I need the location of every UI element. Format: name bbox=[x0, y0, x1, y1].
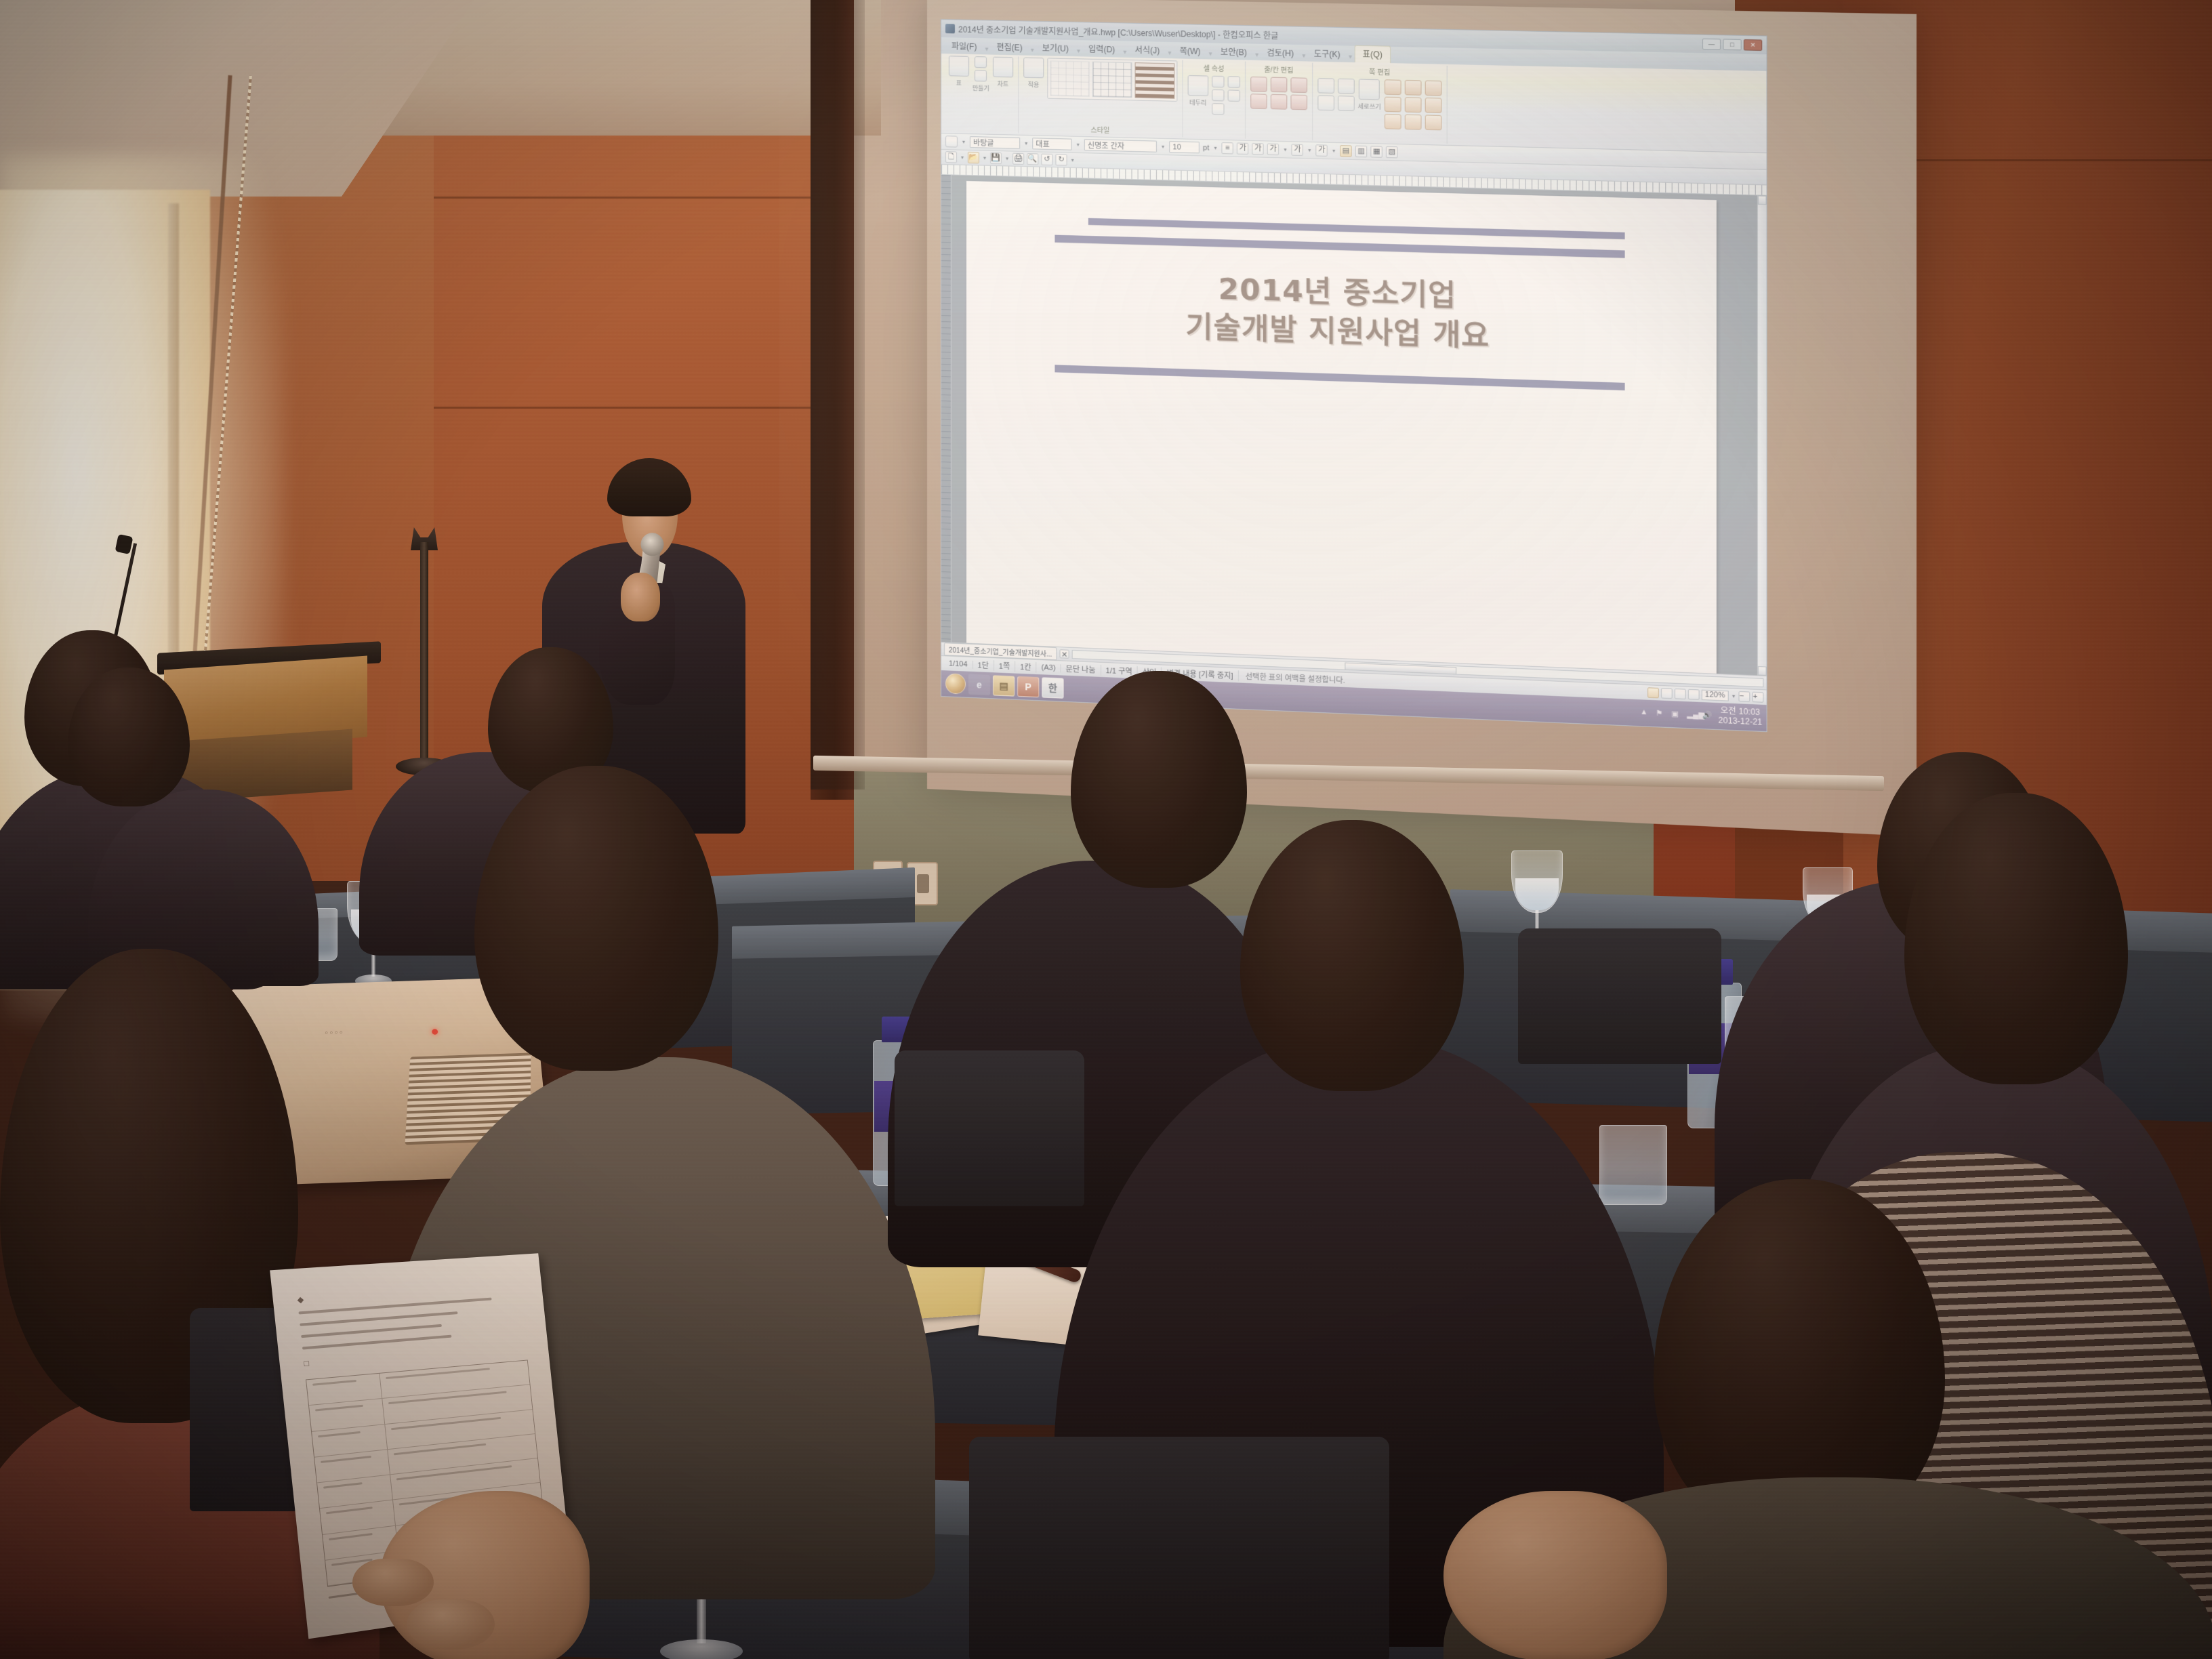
menu-item-format[interactable]: 서식(J) bbox=[1129, 43, 1166, 58]
style-swatch-grid[interactable] bbox=[1092, 62, 1132, 98]
volume-icon[interactable]: 🔊 bbox=[1702, 710, 1713, 721]
close-button[interactable]: ✕ bbox=[1744, 39, 1762, 51]
border-width-icon[interactable] bbox=[1227, 89, 1240, 102]
insert-row-above-icon[interactable] bbox=[1250, 77, 1267, 92]
border-style-icon[interactable] bbox=[1227, 76, 1240, 88]
align-middle-icon[interactable] bbox=[1385, 97, 1401, 112]
table-style-gallery[interactable] bbox=[1047, 58, 1177, 102]
insert-column-left-icon[interactable] bbox=[1271, 77, 1288, 93]
status-paper-size: (A3) bbox=[1037, 663, 1061, 672]
font-size-unit: pt bbox=[1203, 144, 1209, 152]
taskbar-internet-explorer-icon[interactable]: e bbox=[968, 674, 990, 695]
redo-icon[interactable]: ↻ bbox=[1056, 154, 1067, 165]
chevron-down-icon[interactable]: ▾ bbox=[1282, 146, 1288, 152]
status-page: 1쪽 bbox=[994, 660, 1015, 672]
align-bottom-icon[interactable] bbox=[1385, 114, 1401, 129]
action-center-icon[interactable]: ▣ bbox=[1671, 709, 1682, 720]
slide-accent-bar-top-outer bbox=[1088, 218, 1625, 239]
projected-application: 2014년 중소기업 기술개발지원사업_개요.hwp [C:\Users\Wus… bbox=[941, 19, 1767, 732]
bold-button[interactable]: 가 bbox=[1237, 142, 1248, 155]
insert-column-right-icon[interactable] bbox=[1271, 94, 1288, 110]
system-tray[interactable]: ▲ ⚑ ▣ ▂▄▆ 🔊 오전 10:03 2013-12-21 bbox=[1640, 703, 1762, 728]
audience-head bbox=[68, 668, 190, 806]
line-spacing-icon[interactable]: ≡ bbox=[1222, 142, 1233, 155]
paragraph-style-icon[interactable] bbox=[945, 136, 958, 147]
status-page-count: 1/104 bbox=[944, 659, 973, 669]
cell-align-3-icon[interactable] bbox=[1405, 115, 1422, 130]
menu-separator: ▾ bbox=[1122, 47, 1127, 58]
hwp-document-canvas[interactable]: 2014년 중소기업 기술개발 지원사업 개요 bbox=[941, 175, 1767, 676]
menu-separator: ▾ bbox=[1301, 51, 1306, 61]
ribbon-group-title-rowcol: 줄/칸 편집 bbox=[1264, 62, 1293, 75]
print-preview-icon[interactable]: 🔍 bbox=[1027, 153, 1038, 165]
ribbon-label-create: 만들기 bbox=[972, 83, 989, 93]
zoom-in-button[interactable]: + bbox=[1752, 692, 1763, 703]
vertical-scrollbar[interactable] bbox=[1757, 196, 1767, 676]
border-eraser-icon[interactable] bbox=[1212, 89, 1224, 102]
ribbon-group-title-pageedit: 쪽 편집 bbox=[1369, 64, 1390, 77]
font-family-select[interactable]: 신명조 간자 bbox=[1084, 139, 1157, 152]
status-char: 1칸 bbox=[1015, 661, 1036, 672]
show-hidden-icons-icon[interactable]: ▲ bbox=[1640, 708, 1651, 718]
status-column: 1단 bbox=[973, 659, 994, 670]
ribbon-group-table[interactable]: 표 만들기 차트 bbox=[944, 55, 1019, 134]
align-center-button[interactable]: ▥ bbox=[1355, 146, 1367, 158]
ribbon-label-chart: 차트 bbox=[998, 79, 1009, 88]
chevron-down-icon[interactable]: ▾ bbox=[961, 139, 966, 145]
ribbon-group-title-style: 스타일 bbox=[1090, 123, 1109, 135]
microphone-stand-pole bbox=[420, 542, 428, 773]
projector-logo: ◦◦◦◦ bbox=[325, 1027, 345, 1038]
menu-separator: ▾ bbox=[1076, 46, 1081, 56]
view-width-icon[interactable] bbox=[1675, 689, 1686, 699]
cell-height-even-icon[interactable] bbox=[1317, 78, 1334, 94]
ribbon-label-table: 표 bbox=[956, 79, 962, 87]
zoom-out-button[interactable]: − bbox=[1738, 691, 1750, 702]
font-size-input[interactable]: 10 bbox=[1169, 141, 1200, 153]
italic-button[interactable]: 가 bbox=[1252, 143, 1264, 155]
table-icon[interactable] bbox=[949, 56, 969, 77]
menu-separator: ▾ bbox=[1167, 48, 1172, 58]
chevron-down-icon[interactable]: ▾ bbox=[1331, 148, 1336, 154]
network-flag-icon[interactable]: ⚑ bbox=[1656, 708, 1666, 719]
align-left-button[interactable]: ▤ bbox=[1340, 145, 1351, 157]
ribbon-group-title-cell: 셀 속성 bbox=[1204, 61, 1225, 73]
chart-icon[interactable] bbox=[993, 57, 1013, 78]
zoom-magnifier-icon[interactable] bbox=[1688, 689, 1700, 700]
menu-separator: ▾ bbox=[1348, 52, 1353, 62]
status-paragraph: 문단 나눔 bbox=[1061, 663, 1101, 676]
cell-align-5-icon[interactable] bbox=[1425, 98, 1442, 113]
presenter-hand bbox=[621, 573, 660, 621]
cell-border-icon[interactable] bbox=[1187, 75, 1208, 96]
taskbar-powerpoint-icon[interactable]: P bbox=[1017, 676, 1039, 697]
split-cells-icon[interactable] bbox=[1290, 95, 1307, 110]
menu-item-page[interactable]: 쪽(W) bbox=[1174, 43, 1207, 59]
menu-separator: ▾ bbox=[1254, 50, 1259, 60]
cell-align-4-icon[interactable] bbox=[1425, 81, 1442, 96]
style-swatch-banded[interactable] bbox=[1134, 62, 1174, 99]
page-area[interactable]: 2014년 중소기업 기술개발 지원사업 개요 bbox=[951, 175, 1757, 675]
scroll-down-button[interactable] bbox=[1758, 666, 1767, 676]
water-tumbler bbox=[1599, 1125, 1667, 1205]
menu-item-edit[interactable]: 편집(E) bbox=[990, 40, 1028, 56]
scroll-up-button[interactable] bbox=[1758, 196, 1767, 205]
projection-screen-casing bbox=[811, 0, 865, 790]
font-color-button[interactable]: 가 bbox=[1316, 144, 1328, 157]
menu-item-security[interactable]: 보안(B) bbox=[1214, 44, 1253, 60]
menu-item-table[interactable]: 표(Q) bbox=[1354, 45, 1391, 63]
view-facing-pages-icon[interactable] bbox=[1661, 688, 1673, 699]
table-insert-icon[interactable] bbox=[975, 56, 987, 68]
projector-power-led bbox=[432, 1029, 438, 1035]
chevron-down-icon[interactable]: ▾ bbox=[1004, 155, 1010, 161]
maximize-button[interactable]: □ bbox=[1723, 39, 1741, 50]
align-justify-button[interactable]: ▧ bbox=[1386, 146, 1398, 159]
chevron-down-icon[interactable]: ▾ bbox=[1731, 693, 1736, 699]
cell-width-even-icon[interactable] bbox=[1317, 95, 1334, 110]
taskbar-clock[interactable]: 오전 10:03 2013-12-21 bbox=[1719, 706, 1763, 727]
save-icon[interactable]: 💾 bbox=[990, 152, 1002, 164]
menu-item-file[interactable]: 파일(F) bbox=[945, 39, 983, 54]
hwp-app-icon bbox=[945, 24, 955, 33]
ribbon-label-vertical: 세로쓰기 bbox=[1358, 102, 1381, 111]
undo-icon[interactable]: ↺ bbox=[1041, 154, 1052, 165]
handout-heading: ◆ bbox=[297, 1279, 520, 1305]
seminar-room-scene: 2014년 중소기업 기술개발지원사업_개요.hwp [C:\Users\Wus… bbox=[0, 0, 2212, 1659]
clock-date: 2013-12-21 bbox=[1719, 716, 1763, 728]
zoom-level[interactable]: 120% bbox=[1702, 690, 1729, 701]
align-right-button[interactable]: ▦ bbox=[1371, 146, 1382, 158]
menu-separator: ▾ bbox=[984, 44, 989, 54]
slide-title-area: 2014년 중소기업 기술개발 지원사업 개요 bbox=[1054, 243, 1624, 383]
chevron-down-icon[interactable]: ▾ bbox=[1212, 145, 1218, 151]
ribbon-label-apply: 적용 bbox=[1028, 80, 1040, 89]
chevron-down-icon[interactable]: ▾ bbox=[1076, 142, 1081, 148]
menu-item-input[interactable]: 입력(D) bbox=[1082, 41, 1121, 57]
chevron-down-icon[interactable]: ▾ bbox=[982, 155, 987, 161]
outline-select[interactable]: 대표 bbox=[1032, 138, 1071, 150]
chevron-down-icon[interactable]: ▾ bbox=[1070, 157, 1076, 163]
document-page[interactable]: 2014년 중소기업 기술개발 지원사업 개요 bbox=[966, 181, 1717, 674]
taskbar-windows-explorer-icon[interactable]: ▤ bbox=[993, 675, 1015, 696]
taskbar-hwp-icon[interactable]: 한 bbox=[1042, 677, 1063, 698]
close-tab-icon[interactable]: ✕ bbox=[1060, 649, 1069, 659]
chevron-down-icon[interactable]: ▾ bbox=[1307, 147, 1312, 153]
menu-item-view[interactable]: 보기(U) bbox=[1036, 41, 1075, 56]
new-document-icon[interactable]: 🗋 bbox=[945, 151, 957, 163]
split-table-icon[interactable] bbox=[1338, 79, 1355, 94]
signal-strength-icon[interactable]: ▂▄▆ bbox=[1687, 710, 1698, 720]
ribbon-label-border: 테두리 bbox=[1189, 98, 1206, 107]
finger bbox=[352, 1559, 434, 1606]
paragraph-style-select[interactable]: 바탕글 bbox=[970, 136, 1020, 149]
audience-hand bbox=[1443, 1491, 1667, 1659]
window-controls[interactable]: — □ ✕ bbox=[1702, 39, 1762, 51]
wood-seam bbox=[434, 197, 854, 199]
insert-row-below-icon[interactable] bbox=[1250, 94, 1267, 109]
chair-back bbox=[1518, 928, 1721, 1064]
title-slide-block: 2014년 중소기업 기술개발 지원사업 개요 bbox=[1054, 217, 1624, 390]
print-icon[interactable]: 🖨 bbox=[1012, 153, 1024, 165]
border-pen-icon[interactable] bbox=[1212, 76, 1224, 88]
finger bbox=[407, 1599, 495, 1650]
style-swatch-plain[interactable] bbox=[1050, 60, 1089, 97]
chevron-down-icon[interactable]: ▾ bbox=[960, 155, 965, 161]
menu-item-tools[interactable]: 도구(K) bbox=[1308, 46, 1347, 62]
ribbon-group-style[interactable]: 적용 스타일 bbox=[1019, 56, 1183, 137]
ribbon-group-row-column-edit[interactable]: 줄/칸 편집 bbox=[1246, 62, 1313, 141]
vertical-ruler[interactable] bbox=[941, 175, 951, 642]
underline-button[interactable]: 가 bbox=[1267, 144, 1279, 156]
table-delete-icon[interactable] bbox=[975, 70, 987, 81]
align-top-icon[interactable] bbox=[1385, 79, 1401, 95]
vertical-writing-icon[interactable] bbox=[1359, 79, 1380, 100]
view-single-page-icon[interactable] bbox=[1647, 687, 1659, 698]
chevron-down-icon[interactable]: ▾ bbox=[1023, 140, 1029, 146]
menu-item-review[interactable]: 검토(H) bbox=[1261, 45, 1300, 61]
chair-back bbox=[969, 1437, 1389, 1659]
cell-align-6-icon[interactable] bbox=[1425, 115, 1442, 130]
strikethrough-button[interactable]: 가 bbox=[1292, 144, 1303, 156]
cell-align-1-icon[interactable] bbox=[1405, 80, 1422, 96]
menu-separator: ▾ bbox=[1030, 45, 1035, 56]
cell-align-2-icon[interactable] bbox=[1405, 97, 1422, 112]
apply-style-icon[interactable] bbox=[1023, 58, 1044, 79]
chevron-down-icon[interactable]: ▾ bbox=[1160, 144, 1166, 150]
merge-table-icon[interactable] bbox=[1338, 96, 1355, 111]
merge-cells-icon[interactable] bbox=[1290, 77, 1307, 93]
ribbon-group-page-edit[interactable]: 쪽 편집 세로쓰기 bbox=[1313, 63, 1448, 144]
chair-back bbox=[895, 1050, 1084, 1206]
open-document-icon[interactable]: 📂 bbox=[968, 152, 979, 163]
wood-seam bbox=[434, 407, 854, 409]
cell-fill-icon[interactable] bbox=[1212, 103, 1224, 115]
menu-separator: ▾ bbox=[1208, 49, 1213, 59]
windows-start-button[interactable] bbox=[945, 673, 966, 694]
ribbon-group-cell-properties[interactable]: 셀 속성 테두리 bbox=[1183, 60, 1246, 139]
minimize-button[interactable]: — bbox=[1702, 39, 1721, 50]
hwp-window: 2014년 중소기업 기술개발지원사업_개요.hwp [C:\Users\Wus… bbox=[941, 19, 1767, 732]
